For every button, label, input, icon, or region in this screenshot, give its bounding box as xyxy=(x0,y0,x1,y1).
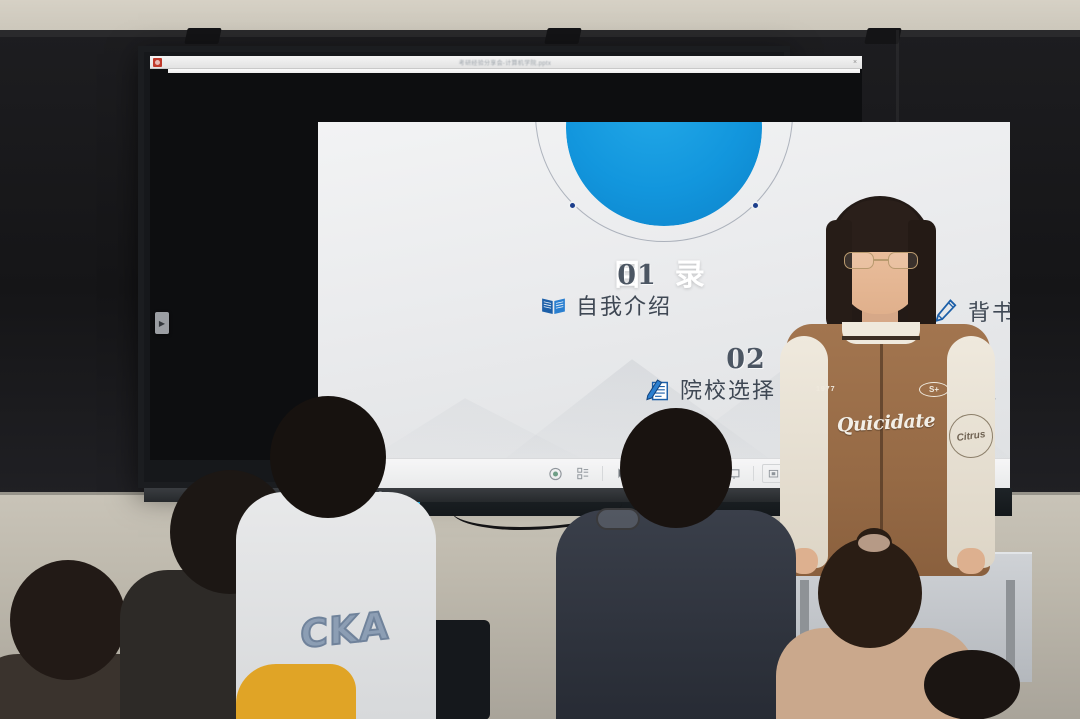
close-icon[interactable]: × xyxy=(848,59,862,66)
jacket-year-text: 1977 xyxy=(816,386,836,393)
presenter-person: 1977 S+ Quicidate Citrus xyxy=(780,196,995,576)
arc-dot xyxy=(568,201,577,210)
eyeglasses-icon xyxy=(844,252,918,269)
ppt-window-titlebar: 考研经验分享会-计算机学院.pptx × xyxy=(150,56,862,69)
hair-left xyxy=(826,220,852,332)
glasses-bridge xyxy=(874,259,888,261)
jacket-badge: S+ xyxy=(919,382,949,397)
shirt-graffiti-text: CKA xyxy=(300,603,389,657)
toc-number: 02 xyxy=(716,344,776,375)
toc-item-01[interactable]: 01 自我介绍 xyxy=(540,260,672,321)
audience-head xyxy=(270,396,386,518)
open-book-icon xyxy=(540,292,567,318)
classroom-scene: 目 录 01 自我介绍 xyxy=(0,0,1080,719)
toc-number: 01 xyxy=(602,260,672,291)
toc-item-02[interactable]: 02 院校选择 xyxy=(644,344,776,405)
upper-wall xyxy=(0,0,1080,34)
audience-eyeglasses-icon xyxy=(596,508,640,530)
hair-scrunchie xyxy=(858,534,890,552)
pen-notepad-icon xyxy=(644,376,671,402)
arc-dot xyxy=(751,201,760,210)
toolbar-divider xyxy=(602,466,603,481)
jacket-placket xyxy=(880,344,883,544)
lens-right xyxy=(888,252,918,269)
audience-body xyxy=(556,510,796,719)
rail-bracket xyxy=(544,28,581,44)
titlebar-strip xyxy=(168,69,860,73)
toc-label: 院校选择 xyxy=(680,373,776,405)
lens-left xyxy=(844,252,874,269)
hair-right xyxy=(908,220,936,338)
slide-grid-icon[interactable] xyxy=(572,464,594,483)
audience-head xyxy=(10,560,126,680)
window-title: 考研经验分享会-计算机学院.pptx xyxy=(162,58,848,67)
play-arrow-icon[interactable]: ▶ xyxy=(155,312,169,334)
audience-head xyxy=(620,408,732,528)
whiteboard-screen[interactable]: 目 录 01 自我介绍 xyxy=(150,56,862,460)
audience-head xyxy=(924,650,1020,719)
collar-stripe xyxy=(842,336,920,340)
toolbar-divider xyxy=(753,466,754,481)
audience-yellow-top xyxy=(236,664,356,719)
hand-right xyxy=(957,548,985,574)
palette-icon[interactable] xyxy=(544,464,566,483)
toc-label: 自我介绍 xyxy=(576,289,672,321)
powerpoint-icon xyxy=(153,58,162,67)
rail-bracket xyxy=(184,28,221,44)
jacket-collar xyxy=(842,322,920,344)
blackboard-rail xyxy=(0,30,1080,37)
